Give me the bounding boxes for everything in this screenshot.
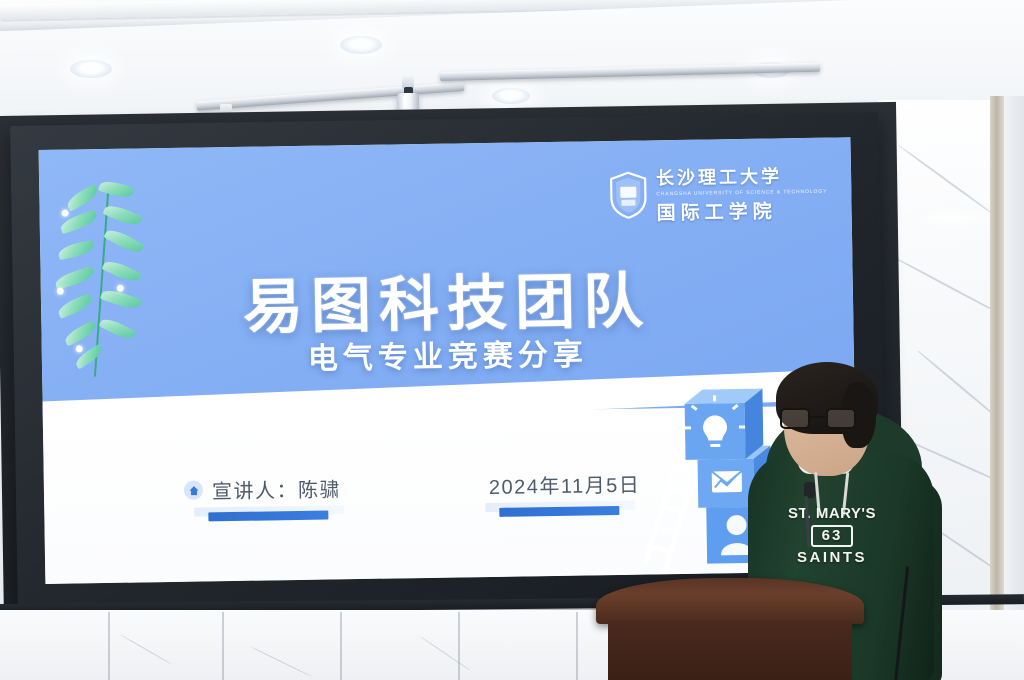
wooden-podium-icon — [596, 578, 864, 680]
tile-seam — [340, 612, 342, 680]
university-shield-icon — [609, 171, 648, 219]
college-name-cn: 国际工学院 — [656, 196, 827, 226]
presenter-text: 宣讲人：陈骕 — [212, 473, 341, 504]
recessed-downlight-icon — [492, 88, 530, 104]
hoodie-line-1: ST. MARY'S — [776, 506, 888, 522]
home-icon — [184, 480, 203, 499]
recessed-downlight-icon — [70, 60, 112, 78]
presenter-block: 宣讲人：陈骕 — [184, 473, 341, 504]
recessed-downlight-icon — [340, 36, 382, 54]
hoodie-number-badge: 63 — [811, 525, 854, 547]
date-block: 2024年11月5日 — [489, 469, 641, 500]
date-bar-accent — [499, 506, 619, 517]
tile-seam — [458, 612, 460, 680]
tile-seam — [576, 612, 578, 680]
eyeglasses-icon — [780, 408, 860, 430]
presenter-bar-accent — [208, 511, 328, 522]
university-name-cn: 长沙理工大学 — [656, 162, 827, 191]
tile-seam — [108, 612, 110, 680]
hoodie-graphic: ST. MARY'S 63 SAINTS — [776, 506, 888, 565]
chart-envelope-icon — [712, 471, 742, 492]
far-wall-segment — [1004, 96, 1024, 680]
hoodie-line-2: SAINTS — [776, 550, 888, 566]
podium-body — [608, 620, 852, 680]
university-logo: 长沙理工大学 CHANGSHA UNIVERSITY OF SCIENCE & … — [609, 162, 828, 226]
presentation-slide[interactable]: 长沙理工大学 CHANGSHA UNIVERSITY OF SCIENCE & … — [39, 137, 858, 584]
podium-top-surface — [596, 578, 864, 624]
lecture-hall-scene: 长沙理工大学 CHANGSHA UNIVERSITY OF SCIENCE & … — [0, 0, 1024, 680]
tile-seam — [222, 612, 224, 680]
date-text: 2024年11月5日 — [489, 469, 641, 500]
